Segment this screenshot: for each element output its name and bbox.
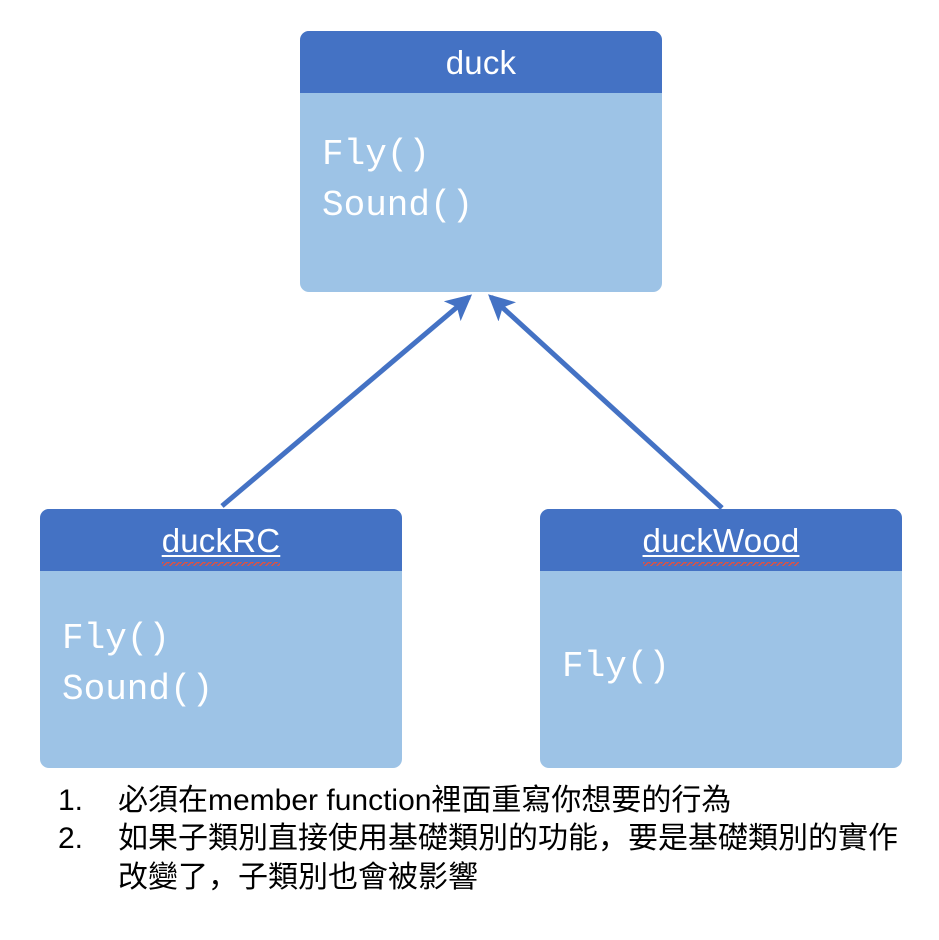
method-item: Sound() — [322, 180, 662, 231]
class-box-duckrc[interactable]: duckRC Fly() Sound() — [40, 509, 402, 768]
notes-list: 1. 必須在member function裡面重寫你想要的行為 2. 如果子類別… — [40, 782, 920, 897]
method-item: Fly() — [62, 613, 402, 664]
class-title-duck: duck — [446, 46, 517, 79]
class-title-duckrc: duckRC — [162, 524, 281, 557]
method-item: Fly() — [562, 641, 902, 692]
note-item: 2. 如果子類別直接使用基礎類別的功能，要是基礎類別的實作改變了，子類別也會被影… — [40, 820, 920, 897]
method-list-duckwood: Fly() — [562, 641, 902, 692]
class-header-duck: duck — [300, 31, 662, 93]
note-text: 必須在member function裡面重寫你想要的行為 — [118, 782, 920, 820]
class-title-duckwood: duckWood — [643, 524, 800, 557]
inheritance-arrow-duckrc-to-duck — [222, 297, 469, 506]
class-body-duckrc: Fly() Sound() — [40, 571, 402, 715]
class-diagram-canvas: duck Fly() Sound() duckRC Fly() Sound() … — [0, 0, 939, 940]
note-text: 如果子類別直接使用基礎類別的功能，要是基礎類別的實作改變了，子類別也會被影響 — [118, 820, 920, 897]
note-marker: 1. — [40, 782, 118, 820]
class-body-duck: Fly() Sound() — [300, 93, 662, 231]
class-box-duckwood[interactable]: duckWood Fly() — [540, 509, 902, 768]
class-box-duck[interactable]: duck Fly() Sound() — [300, 31, 662, 292]
class-body-duckwood: Fly() — [540, 571, 902, 692]
class-header-duckwood: duckWood — [540, 509, 902, 571]
method-item: Sound() — [62, 664, 402, 715]
method-list-duckrc: Fly() Sound() — [62, 613, 402, 715]
inheritance-arrow-duckwood-to-duck — [491, 297, 722, 508]
method-item: Fly() — [322, 129, 662, 180]
method-list-duck: Fly() Sound() — [322, 129, 662, 231]
class-header-duckrc: duckRC — [40, 509, 402, 571]
note-marker: 2. — [40, 820, 118, 858]
note-item: 1. 必須在member function裡面重寫你想要的行為 — [40, 782, 920, 820]
